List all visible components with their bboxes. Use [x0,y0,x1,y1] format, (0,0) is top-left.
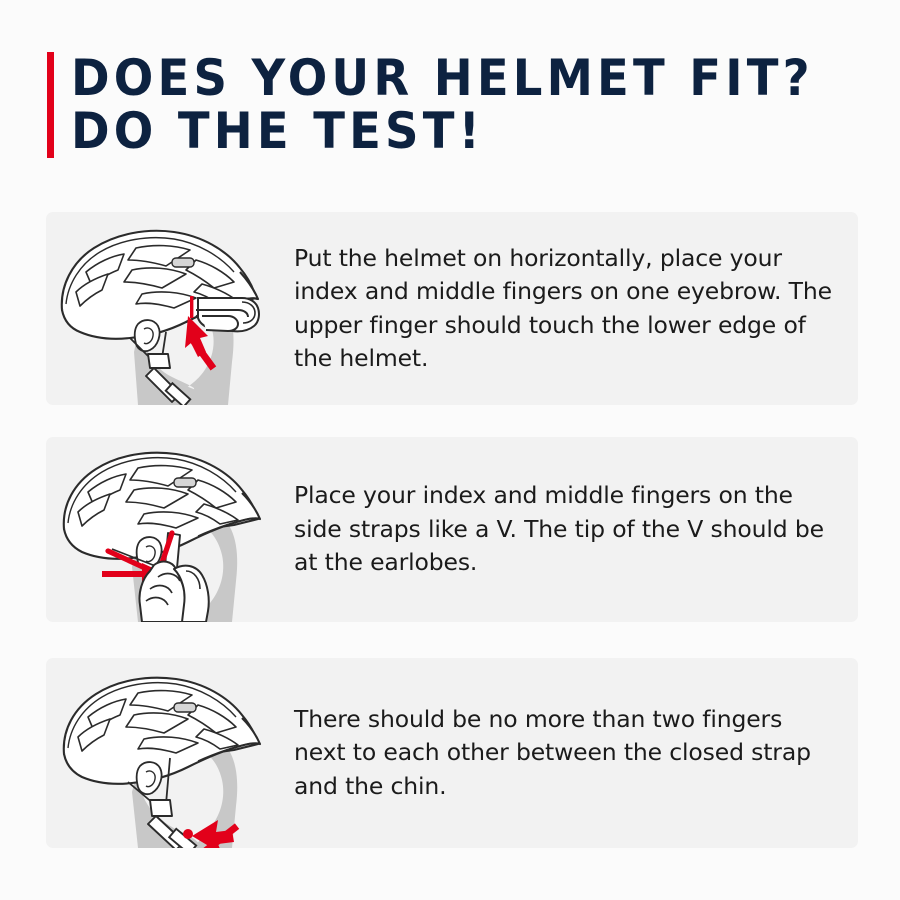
step-card-3: There should be no more than two fingers… [46,658,858,848]
helmet-fit-side-straps-illustration [46,437,294,622]
infographic-page: DOES YOUR HELMET FIT? DO THE TEST! [0,0,900,900]
step-card-2-text: Place your index and middle fingers on t… [294,479,858,580]
step-card-3-text: There should be no more than two fingers… [294,703,858,804]
step-card-1: Put the helmet on horizontally, place yo… [46,212,858,405]
helmet-fit-chin-strap-illustration [46,658,294,848]
title-lines: DOES YOUR HELMET FIT? DO THE TEST! [71,52,870,158]
helmet-fit-forehead-illustration [46,212,294,405]
step-card-2: Place your index and middle fingers on t… [46,437,858,622]
page-title: DOES YOUR HELMET FIT? DO THE TEST! [47,52,870,158]
title-accent-bar [47,52,54,158]
title-line-1: DOES YOUR HELMET FIT? [71,52,814,105]
title-line-2: DO THE TEST! [71,105,814,158]
step-card-1-text: Put the helmet on horizontally, place yo… [294,242,858,376]
